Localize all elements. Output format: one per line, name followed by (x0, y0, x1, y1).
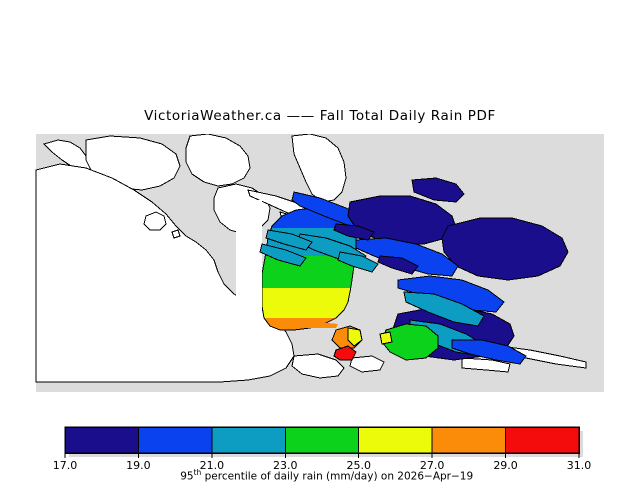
colorbar-caption: 95th percentile of daily rain (mm/day) o… (0, 456, 640, 495)
page-title: VictoriaWeather.ca —— Fall Total Daily R… (0, 108, 640, 124)
colorbar-bin-17.0-19.0[interactable] (65, 427, 138, 453)
island-yellow-tip-southeast (380, 332, 392, 344)
colorbar-bins[interactable] (65, 427, 579, 453)
land-tiny-islet-a (172, 230, 180, 238)
colorbar-bin-23.0-25.0[interactable] (285, 427, 358, 453)
colorbar-bin-29.0-31.0[interactable] (506, 427, 579, 453)
colorbar-bin-21.0-23.0[interactable] (212, 427, 285, 453)
map-canvas[interactable] (0, 134, 640, 396)
weather-map-page: VictoriaWeather.ca —— Fall Total Daily R… (0, 0, 640, 480)
peninsula-white-fill (236, 200, 262, 352)
colorbar-bin-25.0-27.0[interactable] (359, 427, 432, 453)
caption-rest: percentile of daily rain (mm/day) on 202… (201, 471, 473, 483)
map-panel (0, 134, 640, 396)
caption-prefix: 95 (180, 471, 193, 483)
colorbar-bin-27.0-29.0[interactable] (432, 427, 505, 453)
colorbar-bin-19.0-21.0[interactable] (138, 427, 211, 453)
